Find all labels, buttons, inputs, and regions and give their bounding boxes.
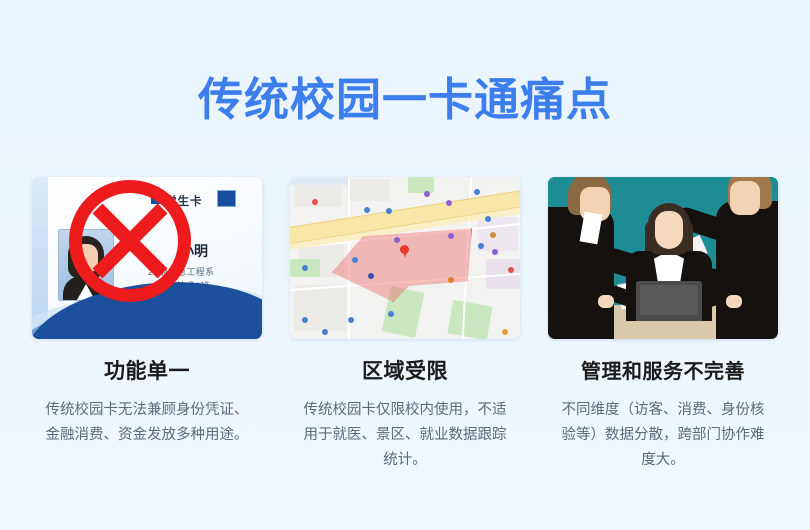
map-poi-marker: [446, 200, 452, 206]
card-chip-icon: [217, 190, 236, 207]
map-poi-marker: [485, 216, 491, 222]
campus-map-illustration: [290, 177, 520, 339]
overwhelmed-worker-illustration: [548, 177, 778, 339]
worker-right-hand: [726, 295, 742, 308]
map-poi-marker: [348, 317, 354, 323]
worker-left-hand: [598, 295, 614, 308]
laptop-screen: [640, 285, 698, 315]
map-green-area: [447, 300, 492, 339]
student-card-image: 学生卡 小明 23级信息工程系 软件技术2班: [32, 177, 262, 339]
page-title: 传统校园一卡通痛点: [0, 74, 810, 126]
map-poi-marker: [386, 208, 392, 214]
map-green-area: [408, 177, 434, 193]
map-poi-marker: [322, 329, 328, 335]
column-body-text: 传统校园卡无法兼顾身份凭证、金融消费、资金发放多种用途。: [39, 398, 255, 448]
map-location-pin-icon: [400, 245, 409, 258]
map-poi-marker: [352, 257, 358, 263]
map-water: [290, 177, 350, 185]
map-poi-marker: [490, 232, 496, 238]
pain-point-card-management-service: 管理和服务不完善 不同维度（访客、消费、身份核验等）数据分散，跨部门协作难度大。: [541, 177, 785, 473]
map-poi-marker: [388, 311, 394, 317]
map-poi-marker: [448, 233, 454, 239]
office-illustration-image: [548, 177, 778, 339]
map-poi-marker: [478, 243, 484, 249]
pain-point-card-area-limited: 区域受限 传统校园卡仅限校内使用，不适用于就医、景区、就业数据跟踪统计。: [283, 177, 527, 473]
map-poi-marker: [492, 249, 498, 255]
worker-face: [655, 211, 683, 249]
right-face: [730, 181, 760, 215]
pain-point-card-function-single: 学生卡 小明 23级信息工程系 软件技术2班: [25, 177, 269, 473]
map-poi-marker: [448, 277, 454, 283]
map-poi-marker: [508, 267, 514, 273]
map-poi-marker: [502, 329, 508, 335]
map-poi-marker: [394, 237, 400, 243]
laptop-icon: [636, 281, 702, 321]
map-poi-marker: [474, 189, 480, 195]
map-poi-marker: [424, 191, 430, 197]
column-heading: 区域受限: [362, 359, 448, 385]
map-poi-marker: [368, 273, 374, 279]
map-block: [294, 285, 346, 331]
column-body-text: 不同维度（访客、消费、身份核验等）数据分散，跨部门协作难度大。: [555, 398, 771, 473]
map-poi-marker: [302, 317, 308, 323]
slide-root: 传统校园一卡通痛点 学生卡 小明 23级信息工程系: [0, 0, 810, 530]
map-poi-marker: [302, 265, 308, 271]
map-block: [478, 217, 518, 251]
column-heading: 功能单一: [104, 359, 190, 385]
prohibition-cross-icon: [69, 180, 191, 302]
map-poi-marker: [364, 207, 370, 213]
column-body-text: 传统校园卡仅限校内使用，不适用于就医、景区、就业数据跟踪统计。: [297, 398, 513, 473]
map-block: [350, 179, 390, 201]
pin-tail: [403, 251, 407, 258]
column-heading: 管理和服务不完善: [581, 359, 745, 385]
map-image: [290, 177, 520, 339]
map-poi-marker: [312, 199, 318, 205]
pain-point-columns: 学生卡 小明 23级信息工程系 软件技术2班: [0, 177, 810, 473]
